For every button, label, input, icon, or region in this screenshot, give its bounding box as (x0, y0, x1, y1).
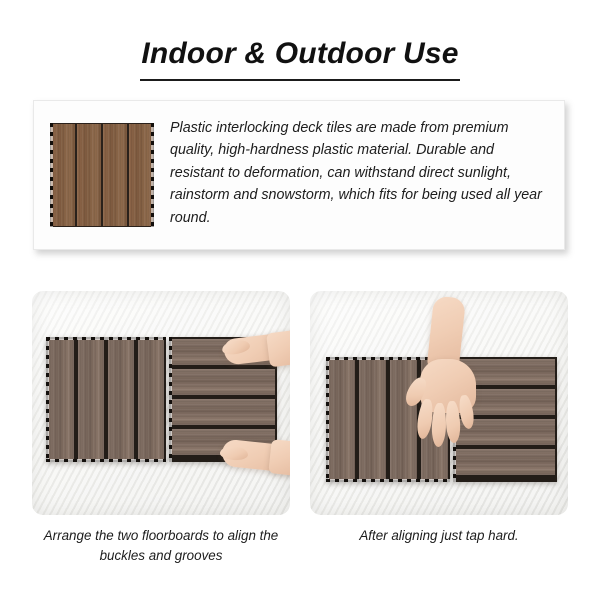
tile-slat (51, 124, 75, 226)
tile-buckle-nubs-right (151, 123, 154, 227)
photo-scene-left (32, 291, 290, 515)
tile-slat (171, 369, 275, 395)
tile-buckle-nubs-left (326, 357, 329, 482)
tile-buckle-nubs-bottom (326, 479, 450, 482)
tile-buckle-nubs-left (50, 123, 53, 227)
tile-slat (138, 339, 164, 460)
description-paragraph: Plastic interlocking deck tiles are made… (170, 101, 564, 229)
description-card: Plastic interlocking deck tiles are made… (33, 100, 565, 250)
caption-step-2: After aligning just tap hard. (310, 526, 568, 565)
tile-slat (48, 339, 74, 460)
deck-tile-vertical (46, 337, 166, 462)
tile-buckle-nubs-top (46, 337, 166, 340)
deck-tile-product-photo (34, 101, 170, 249)
caption-step-1: Arrange the two floorboards to align the… (32, 526, 290, 565)
forearm-lower (268, 439, 290, 477)
tile-slat (103, 124, 127, 226)
step-captions-row: Arrange the two floorboards to align the… (32, 526, 568, 565)
tile-slat (359, 359, 386, 480)
tile-buckle-nubs-left (169, 337, 172, 462)
tile-slat (77, 124, 101, 226)
tile-slat (129, 124, 153, 226)
tile-slat (455, 449, 555, 475)
page-title: Indoor & Outdoor Use (0, 36, 600, 72)
tile-slat (108, 339, 134, 460)
hand-tapping-tile-photo (310, 291, 568, 515)
tile-slat (171, 399, 275, 425)
tile-slat (328, 359, 355, 480)
two-tiles-being-aligned-photo (32, 291, 290, 515)
tile-slat (390, 359, 417, 480)
tile-buckle-nubs-left (46, 337, 49, 462)
forearm-upper (266, 329, 290, 368)
deck-tile-graphic (50, 123, 154, 227)
title-underline-rule (140, 79, 460, 81)
tile-buckle-nubs-bottom (46, 459, 166, 462)
photo-scene-right (310, 291, 568, 515)
tile-slat (78, 339, 104, 460)
step-photos-row (32, 291, 568, 515)
